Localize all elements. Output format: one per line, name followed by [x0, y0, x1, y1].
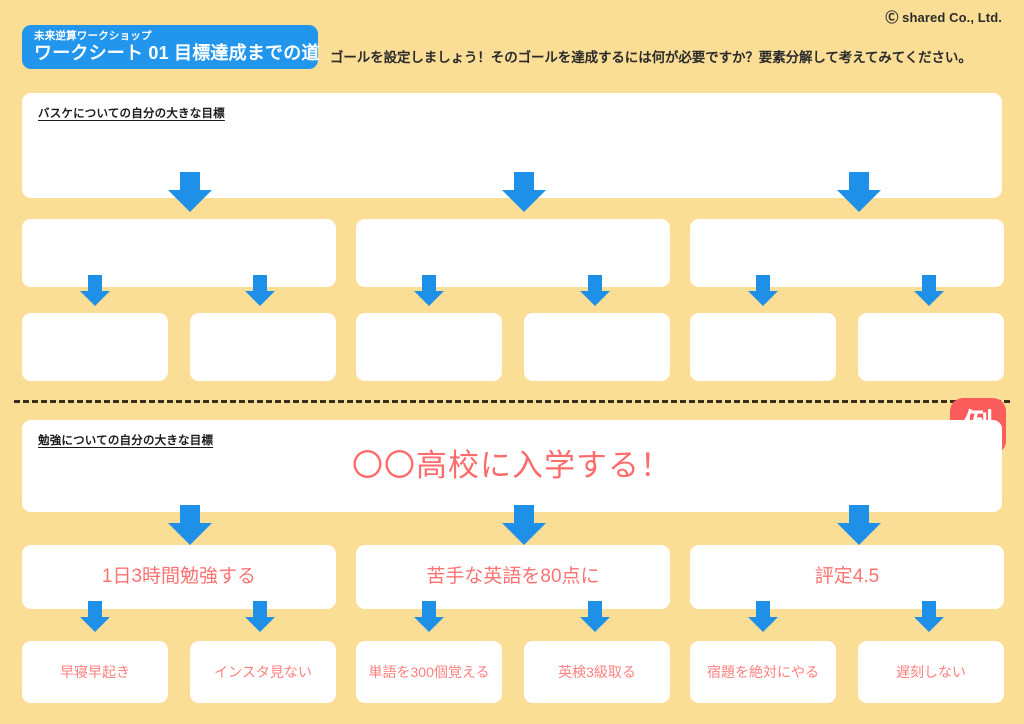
- blank-bottom-box[interactable]: [356, 313, 502, 381]
- arrow-down-icon: [502, 172, 546, 212]
- example-bottom-box[interactable]: 宿題を絶対にやる: [690, 641, 836, 703]
- example-bottom-box[interactable]: 早寝早起き: [22, 641, 168, 703]
- blank-middle-box[interactable]: [690, 219, 1004, 287]
- arrow-down-icon: [245, 275, 275, 306]
- arrow-down-icon: [580, 601, 610, 632]
- example-bottom-box[interactable]: 単語を300個覚える: [356, 641, 502, 703]
- example-middle-box[interactable]: 苦手な英語を80点に: [356, 545, 670, 609]
- blank-bottom-box[interactable]: [524, 313, 670, 381]
- arrow-down-icon: [414, 275, 444, 306]
- blank-middle-box[interactable]: [22, 219, 336, 287]
- example-middle-value: 苦手な英語を80点に: [426, 565, 599, 589]
- arrow-down-icon: [80, 601, 110, 632]
- worksheet-page: Ⓒ shared Co., Ltd. 未来逆算ワークショップ ワークシート 01…: [0, 0, 1024, 724]
- arrow-down-icon: [80, 275, 110, 306]
- example-bottom-box[interactable]: 英検3級取る: [524, 641, 670, 703]
- arrow-down-icon: [502, 505, 546, 545]
- blank-middle-box[interactable]: [356, 219, 670, 287]
- arrow-down-icon: [748, 601, 778, 632]
- arrow-down-icon: [245, 601, 275, 632]
- blank-bottom-box[interactable]: [22, 313, 168, 381]
- example-middle-box[interactable]: 1日3時間勉強する: [22, 545, 336, 609]
- blank-bottom-box[interactable]: [690, 313, 836, 381]
- example-bottom-value: 早寝早起き: [60, 663, 130, 681]
- section-divider: [14, 400, 1010, 403]
- example-goal-value: 〇〇高校に入学する！: [352, 449, 672, 483]
- arrow-down-icon: [837, 172, 881, 212]
- arrow-down-icon: [914, 275, 944, 306]
- arrow-down-icon: [168, 505, 212, 545]
- arrow-down-icon: [168, 172, 212, 212]
- example-bottom-box[interactable]: 遅刻しない: [858, 641, 1004, 703]
- arrow-down-icon: [748, 275, 778, 306]
- worksheet-title-badge: 未来逆算ワークショップ ワークシート 01 目標達成までの道: [22, 25, 318, 69]
- copyright-notice: Ⓒ shared Co., Ltd.: [885, 7, 1002, 26]
- example-bottom-value: インスタ見ない: [214, 663, 312, 681]
- example-goal-label: 勉強についての自分の大きな目標: [38, 432, 213, 448]
- example-middle-box[interactable]: 評定4.5: [690, 545, 1004, 609]
- worksheet-title: ワークシート 01 目標達成までの道: [34, 42, 318, 65]
- arrow-down-icon: [414, 601, 444, 632]
- example-bottom-value: 単語を300個覚える: [369, 663, 490, 681]
- example-middle-value: 1日3時間勉強する: [102, 565, 256, 589]
- example-goal-box[interactable]: 勉強についての自分の大きな目標 〇〇高校に入学する！: [22, 420, 1002, 512]
- blank-goal-label: バスケについての自分の大きな目標: [38, 105, 225, 121]
- example-bottom-value: 遅刻しない: [896, 663, 966, 681]
- example-bottom-box[interactable]: インスタ見ない: [190, 641, 336, 703]
- example-middle-value: 評定4.5: [815, 565, 879, 589]
- workshop-subtitle: 未来逆算ワークショップ: [34, 30, 318, 42]
- instruction-text: ゴールを設定しましょう！そのゴールを達成するには何が必要ですか？要素分解して考え…: [330, 46, 972, 66]
- blank-bottom-box[interactable]: [190, 313, 336, 381]
- arrow-down-icon: [914, 601, 944, 632]
- arrow-down-icon: [837, 505, 881, 545]
- example-bottom-value: 宿題を絶対にやる: [707, 663, 819, 681]
- arrow-down-icon: [580, 275, 610, 306]
- blank-bottom-box[interactable]: [858, 313, 1004, 381]
- example-bottom-value: 英検3級取る: [558, 663, 636, 681]
